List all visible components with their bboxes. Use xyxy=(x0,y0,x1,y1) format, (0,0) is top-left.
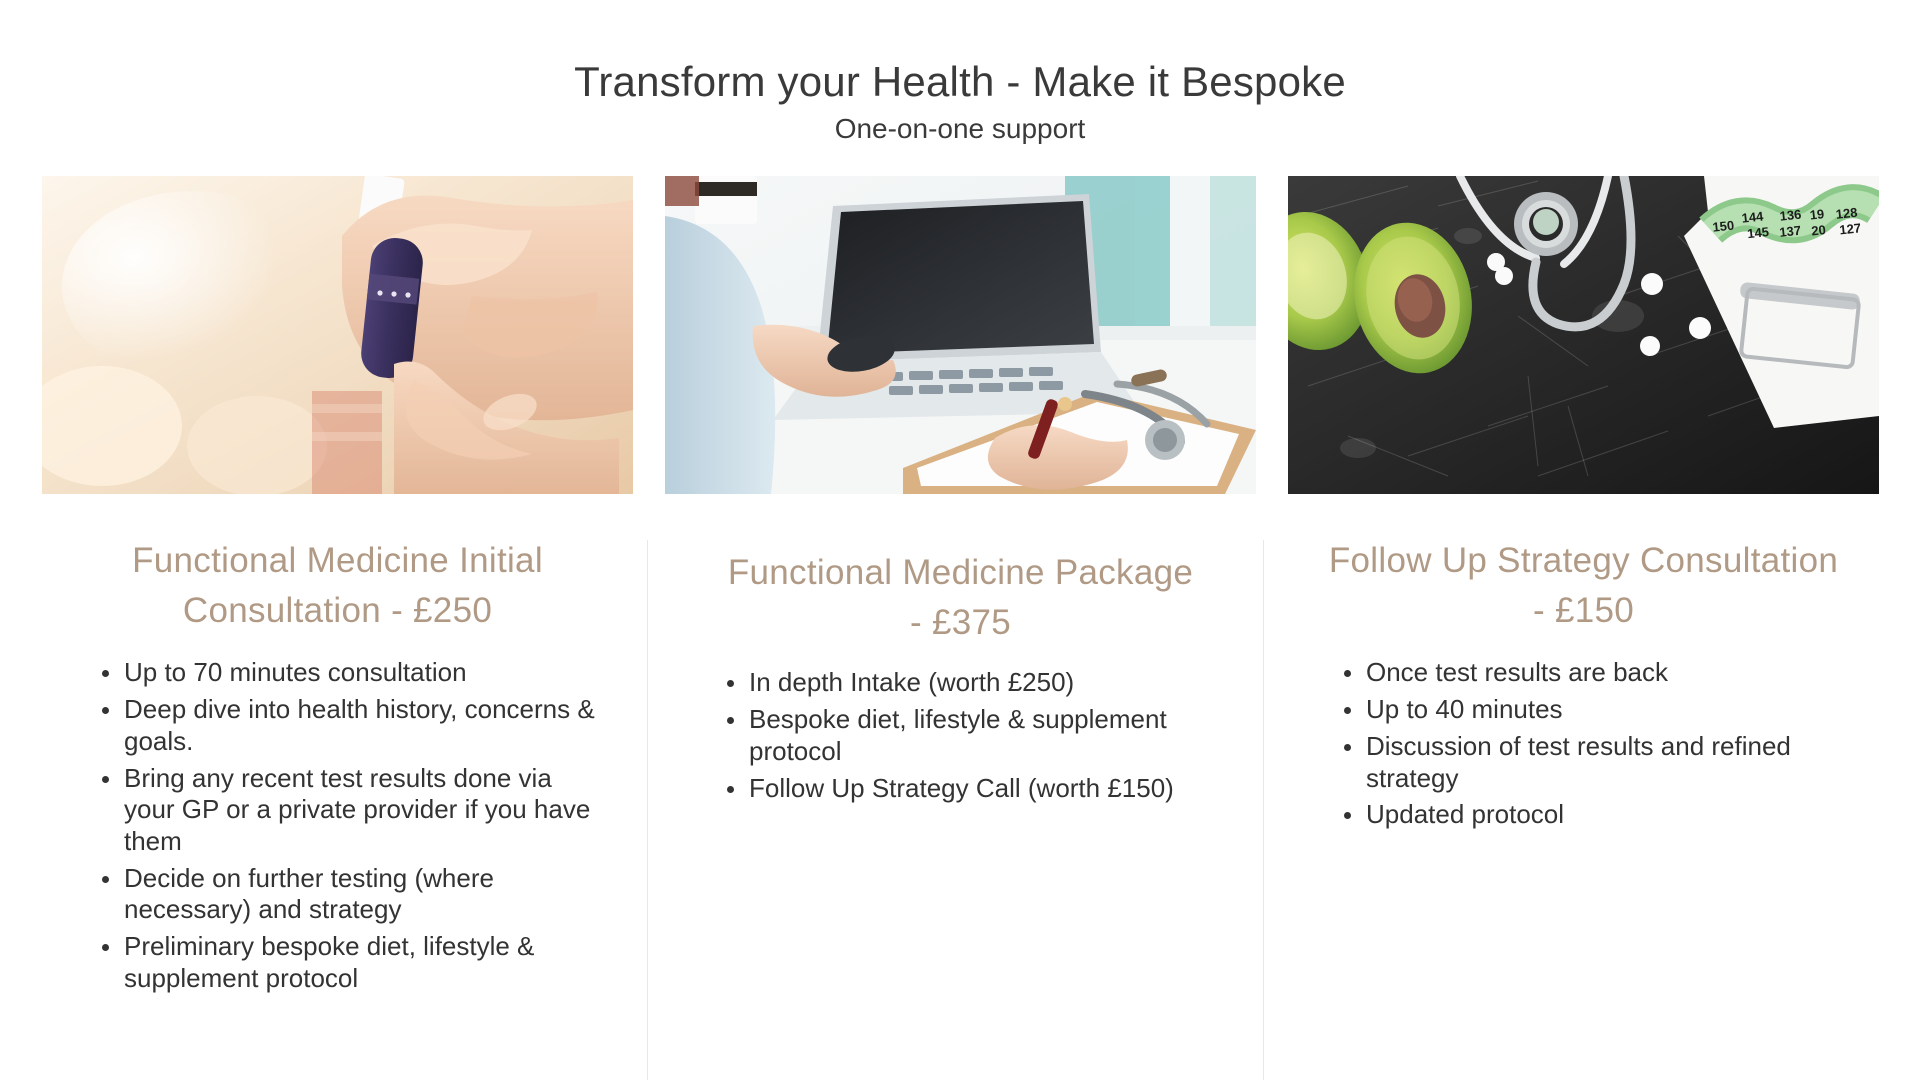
list-item: Up to 40 minutes xyxy=(1344,694,1849,726)
svg-text:136: 136 xyxy=(1779,207,1802,224)
list-item: In depth Intake (worth £250) xyxy=(727,667,1226,699)
list-item: Preliminary bespoke diet, lifestyle & su… xyxy=(102,931,603,994)
svg-text:137: 137 xyxy=(1779,223,1802,240)
svg-text:150: 150 xyxy=(1712,218,1735,235)
doctor-laptop-clipboard-photo xyxy=(665,176,1256,494)
avocado-stethoscope-tape-measure-photo: 150 144 145 136 137 19 20 128 127 xyxy=(1288,176,1879,494)
svg-text:128: 128 xyxy=(1835,205,1858,222)
pricing-card-grid: Functional Medicine Initial Consultation… xyxy=(42,176,1880,1080)
column-gap xyxy=(633,176,665,1080)
list-item: Decide on further testing (where necessa… xyxy=(102,863,603,926)
svg-text:19: 19 xyxy=(1809,206,1825,222)
glucose-lancet-finger-prick-photo xyxy=(42,176,633,494)
list-item: Once test results are back xyxy=(1344,657,1849,689)
list-item: Up to 70 minutes consultation xyxy=(102,657,603,689)
page-header: Transform your Health - Make it Bespoke … xyxy=(0,58,1920,147)
page-subtitle: One-on-one support xyxy=(0,111,1920,147)
svg-text:127: 127 xyxy=(1839,220,1862,237)
card-feature-list: Once test results are back Up to 40 minu… xyxy=(1288,657,1879,831)
list-item: Updated protocol xyxy=(1344,799,1849,831)
pricing-card-initial-consultation[interactable]: Functional Medicine Initial Consultation… xyxy=(42,176,633,1080)
card-title: Follow Up Strategy Consultation - £150 xyxy=(1288,536,1879,635)
card-feature-list: In depth Intake (worth £250) Bespoke die… xyxy=(665,667,1256,804)
svg-text:145: 145 xyxy=(1747,224,1770,241)
svg-text:144: 144 xyxy=(1741,208,1765,225)
list-item: Bespoke diet, lifestyle & supplement pro… xyxy=(727,704,1226,767)
column-divider-1 xyxy=(647,540,648,1080)
list-item: Follow Up Strategy Call (worth £150) xyxy=(727,773,1226,805)
list-item: Deep dive into health history, concerns … xyxy=(102,694,603,757)
card-title: Functional Medicine Initial Consultation… xyxy=(42,536,633,635)
list-item: Discussion of test results and refined s… xyxy=(1344,731,1849,794)
pricing-card-package[interactable]: Functional Medicine Package - £375 In de… xyxy=(665,176,1256,1080)
card-title: Functional Medicine Package - £375 xyxy=(665,548,1256,647)
pricing-card-follow-up[interactable]: 150 144 145 136 137 19 20 128 127 Follow… xyxy=(1288,176,1879,1080)
page-title: Transform your Health - Make it Bespoke xyxy=(0,58,1920,105)
svg-text:20: 20 xyxy=(1811,222,1827,238)
card-feature-list: Up to 70 minutes consultation Deep dive … xyxy=(42,657,633,994)
list-item: Bring any recent test results done via y… xyxy=(102,763,603,858)
column-gap xyxy=(1256,176,1288,1080)
column-divider-2 xyxy=(1263,540,1264,1080)
pricing-page: Transform your Health - Make it Bespoke … xyxy=(0,0,1920,1080)
